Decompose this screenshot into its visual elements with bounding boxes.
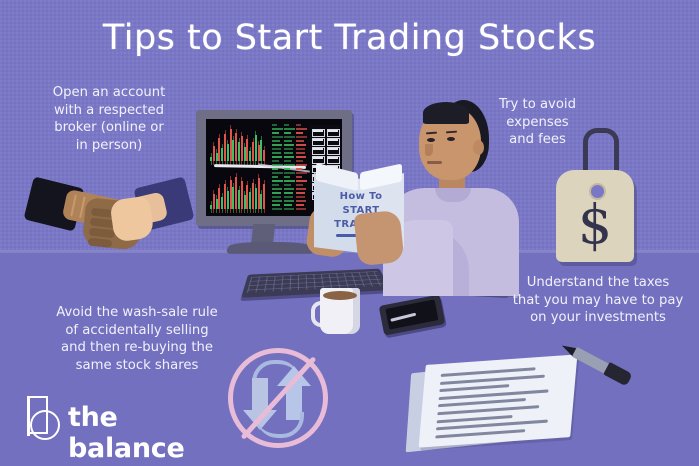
candlestick-wick: [227, 187, 228, 213]
ticker-row: [272, 208, 282, 210]
candlestick-wick: [225, 130, 226, 165]
candlestick: [258, 178, 260, 209]
ticker-row: [284, 172, 295, 174]
candlestick: [218, 138, 220, 161]
panel-box: [327, 129, 340, 137]
candlestick: [263, 150, 265, 161]
coffee-surface: [323, 291, 357, 300]
candlestick-wick: [211, 153, 212, 165]
ticker-row: [296, 164, 307, 166]
candlestick-wick: [222, 193, 223, 213]
ticker-row: [284, 188, 294, 190]
candlestick: [216, 199, 218, 209]
ticker-row: [272, 172, 283, 174]
ticker-row: [284, 192, 293, 194]
ticker-row: [296, 148, 305, 150]
candlestick-chart-lower: [210, 171, 268, 211]
candlestick-wick: [250, 147, 251, 165]
candlestick: [263, 184, 265, 209]
candlestick-wick: [219, 184, 220, 213]
candlestick: [232, 187, 234, 209]
candlestick: [213, 146, 215, 161]
candlestick: [227, 144, 229, 161]
ticker-row: [296, 152, 305, 154]
panel-box: [327, 147, 340, 155]
candlestick-wick: [258, 174, 259, 213]
candlestick: [224, 184, 226, 209]
panel-box: [327, 138, 340, 146]
candlestick: [238, 142, 240, 161]
candlestick: [235, 133, 237, 161]
panel-box: [312, 129, 325, 137]
candlestick: [238, 190, 240, 209]
ticker-row: [272, 132, 279, 134]
ticker-row: [284, 208, 294, 210]
ticker-row: [296, 208, 306, 210]
candlestick: [221, 197, 223, 209]
candlestick: [210, 205, 212, 209]
person-eye-right: [447, 137, 455, 141]
candlestick-wick: [216, 195, 217, 213]
infographic-canvas: Tips to Start Trading Stocks: [0, 0, 699, 466]
ticker-row: [296, 140, 304, 142]
ticker-row: [272, 140, 280, 142]
ticker-row: [296, 176, 302, 178]
candlestick-wick: [258, 141, 259, 165]
ticker-row: [272, 136, 283, 138]
ticker-row: [272, 200, 282, 202]
ticker-row: [284, 152, 293, 154]
ticker-row: [284, 180, 295, 182]
candlestick-wick: [255, 131, 256, 165]
candlestick: [246, 139, 248, 161]
ticker-column-red: [296, 124, 307, 212]
candlestick-wick: [264, 180, 265, 213]
candlestick: [218, 188, 220, 209]
ticker-row: [284, 176, 290, 178]
candlestick: [230, 180, 232, 209]
candlestick-wick: [250, 188, 251, 213]
ticker-row: [296, 124, 301, 126]
candlestick: [235, 177, 237, 209]
ticker-row: [284, 140, 292, 142]
handshake-hand-right: [109, 195, 154, 242]
price-tag: $: [556, 170, 634, 262]
ticker-row: [296, 184, 303, 186]
candlestick: [241, 136, 243, 161]
candlestick-wick: [222, 144, 223, 165]
ticker-row: [272, 160, 279, 162]
ticker-row: [296, 128, 307, 130]
dollar-sign-icon: $: [556, 196, 634, 254]
document-front-sheet: [419, 354, 578, 447]
candlestick-wick: [227, 140, 228, 165]
logo-mark-circle: [30, 410, 60, 440]
candlestick: [216, 153, 218, 161]
candlestick-wick: [233, 183, 234, 213]
handshake-finger: [89, 228, 116, 239]
person-hair-front: [423, 102, 469, 124]
candlestick-wick: [253, 179, 254, 213]
ticker-row: [284, 136, 295, 138]
panel-box: [312, 138, 325, 146]
candlestick-wick: [241, 132, 242, 165]
person-hand-right: [353, 210, 404, 267]
candlestick-wick: [264, 146, 265, 165]
candlestick-wick: [216, 149, 217, 165]
ticker-row: [272, 176, 278, 178]
caption-avoid-fees: Try to avoid expenses and fees: [470, 96, 605, 149]
document-text-line: [437, 415, 513, 423]
candlestick: [252, 142, 254, 161]
candlestick: [213, 194, 215, 209]
ticker-row: [272, 124, 277, 126]
candlestick: [249, 192, 251, 209]
candlestick-wick: [255, 184, 256, 213]
candlestick: [260, 194, 262, 209]
ticker-row: [296, 168, 302, 170]
ticker-row: [284, 160, 291, 162]
candlestick-wick: [239, 186, 240, 213]
candlestick-wick: [247, 181, 248, 213]
document-text-line: [435, 429, 525, 438]
handshake-finger: [88, 238, 113, 248]
candlestick: [232, 140, 234, 161]
ticker-row: [272, 188, 282, 190]
ticker-row: [296, 196, 305, 198]
candlestick-wick: [241, 177, 242, 213]
candlestick-wick: [213, 142, 214, 165]
candlestick: [255, 135, 257, 161]
ticker-row: [296, 160, 303, 162]
ticker-row: [296, 132, 303, 134]
candlestick-wick: [236, 173, 237, 213]
ticker-row: [284, 124, 289, 126]
logo-mark-stem: [27, 396, 30, 436]
candlestick-wick: [211, 201, 212, 213]
ticker-row: [296, 188, 306, 190]
candlestick: [252, 183, 254, 209]
monitor-base: [224, 242, 315, 254]
tax-documents: [408, 356, 598, 452]
logo-text: the balance: [68, 402, 202, 464]
candlestick-chart-upper: [210, 123, 268, 163]
ticker-row: [296, 192, 305, 194]
candlestick: [241, 181, 243, 209]
coffee-mug: [320, 288, 360, 336]
candlestick-wick: [213, 190, 214, 213]
ticker-row: [272, 144, 282, 146]
ticker-row: [284, 156, 294, 158]
candlestick-wick: [230, 125, 231, 165]
candlestick: [258, 145, 260, 161]
ticker-row: [272, 128, 283, 130]
candlestick-wick: [261, 190, 262, 213]
candlestick-wick: [261, 136, 262, 165]
candlestick: [227, 191, 229, 209]
candlestick: [221, 148, 223, 161]
handshake: [26, 172, 192, 258]
ticker-row: [272, 156, 282, 158]
ticker-row: [272, 152, 281, 154]
candlestick-wick: [239, 138, 240, 165]
panel-box: [327, 156, 340, 164]
ticker-row: [272, 192, 281, 194]
the-balance-logo[interactable]: the balance: [22, 396, 202, 442]
ticker-row: [272, 196, 281, 198]
page-title: Tips to Start Trading Stocks: [0, 18, 699, 58]
ticker-row: [284, 184, 291, 186]
ticker-row: [272, 204, 280, 206]
ticker-row: [284, 132, 291, 134]
candlestick: [230, 129, 232, 161]
candlestick: [246, 185, 248, 209]
ticker-row: [296, 180, 307, 182]
caption-open-account: Open an account with a respected broker …: [24, 84, 194, 154]
candlestick: [260, 140, 262, 161]
ticker-row: [296, 136, 307, 138]
candlestick-wick: [236, 129, 237, 165]
candlestick-wick: [247, 135, 248, 165]
ticker-row: [272, 180, 283, 182]
candlestick: [249, 151, 251, 161]
candlestick-wick: [244, 143, 245, 165]
candlestick: [244, 195, 246, 209]
ticker-row: [272, 164, 283, 166]
candlestick-wick: [219, 134, 220, 165]
ticker-row: [284, 204, 292, 206]
document-text-line: [439, 384, 509, 392]
ticker-row: [296, 144, 306, 146]
handshake-wrist-band: [70, 194, 77, 216]
person-nose: [425, 144, 433, 156]
ticker-row: [272, 168, 278, 170]
ticker-row: [284, 148, 293, 150]
ticker-row: [284, 196, 293, 198]
person-eye-left: [427, 138, 435, 142]
ticker-row: [284, 128, 295, 130]
ticker-row: [284, 200, 294, 202]
ticker-row: [272, 148, 281, 150]
ticker-column-green-2: [284, 124, 295, 212]
ticker-row: [272, 184, 279, 186]
ticker-row: [284, 168, 290, 170]
ticker-column-green: [272, 124, 283, 212]
caption-wash-sale: Avoid the wash-sale rule of accidentally…: [32, 304, 242, 374]
mug-body: [320, 288, 360, 334]
caption-understand-taxes: Understand the taxes that you may have t…: [498, 274, 698, 327]
ticker-row: [284, 164, 295, 166]
ticker-row: [296, 204, 304, 206]
keyboard-keys: [247, 271, 384, 293]
candlestick-wick: [233, 136, 234, 165]
ticker-row: [296, 156, 306, 158]
person-mouth: [427, 161, 442, 164]
no-wash-sale-symbol: [228, 348, 328, 448]
ticker-row: [296, 200, 306, 202]
candlestick-wick: [244, 191, 245, 213]
candlestick: [244, 147, 246, 161]
ticker-row: [284, 144, 294, 146]
candlestick-wick: [230, 176, 231, 213]
candlestick: [255, 188, 257, 209]
candlestick-wick: [225, 180, 226, 213]
document-text-line: [437, 405, 539, 415]
ticker-row: [296, 172, 307, 174]
candlestick-wick: [253, 138, 254, 165]
candlestick: [224, 134, 226, 161]
candlestick: [210, 157, 212, 161]
panel-box: [312, 147, 325, 155]
